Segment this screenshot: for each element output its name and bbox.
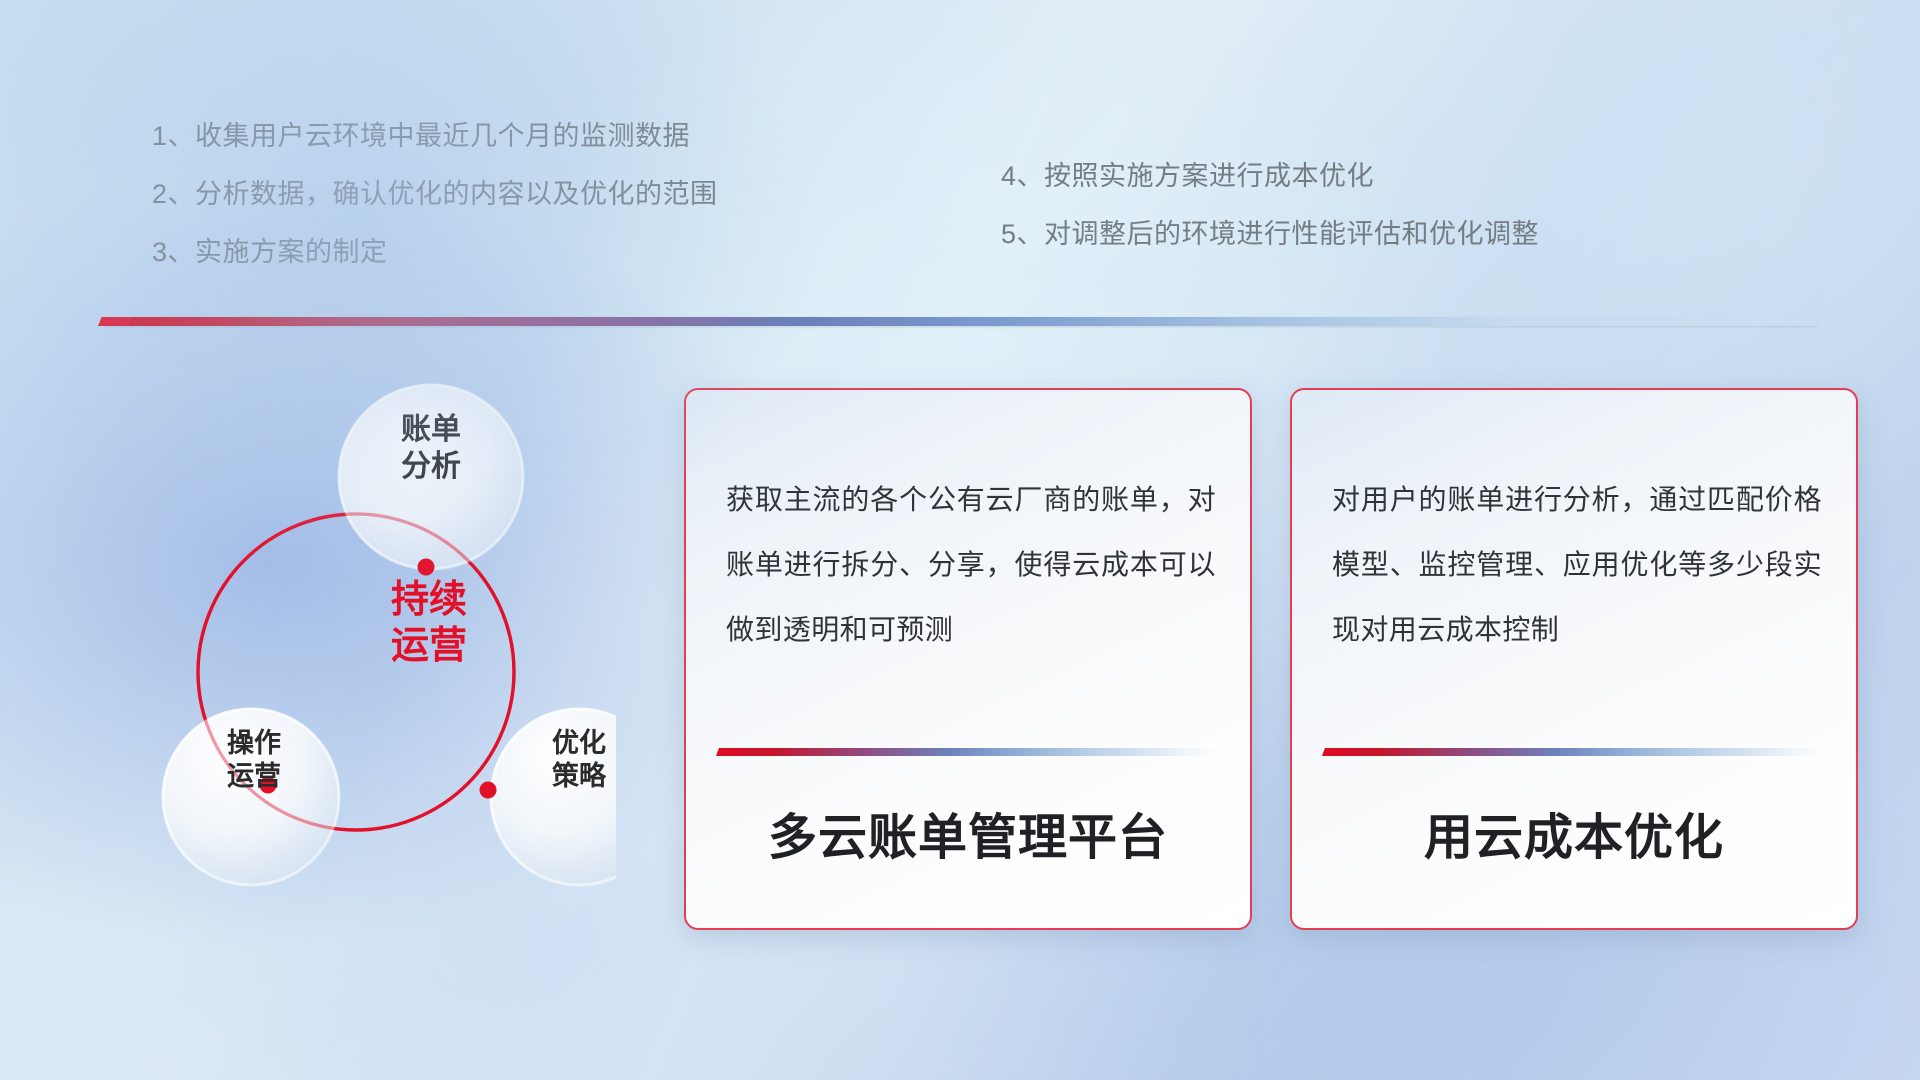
process-step-1: 1、收集用户云环境中最近几个月的监测数据 bbox=[152, 123, 718, 150]
process-steps-right: 4、按照实施方案进行成本优化 5、对调整后的环境进行性能评估和优化调整 bbox=[1001, 163, 1539, 279]
divider-accent-cap bbox=[98, 317, 132, 326]
feature-card-cost-optimization[interactable]: 对用户的账单进行分析，通过匹配价格模型、监控管理、应用优化等多少段实现对用云成本… bbox=[1290, 388, 1858, 930]
process-step-2: 2、分析数据，确认优化的内容以及优化的范围 bbox=[152, 181, 718, 208]
process-step-3: 3、实施方案的制定 bbox=[152, 239, 718, 266]
venn-node-top bbox=[418, 559, 435, 576]
card-rule-accent-cap bbox=[716, 748, 741, 756]
venn-diagram: 账单 分析 持续 运营 操作 运营 优化 策略 bbox=[96, 352, 616, 952]
card-description: 获取主流的各个公有云厂商的账单，对账单进行拆分、分享，使得云成本可以做到透明和可… bbox=[726, 468, 1216, 663]
venn-label-optimization: 优化 策略 bbox=[499, 727, 659, 793]
venn-node-bottom-right bbox=[480, 782, 497, 799]
card-title: 用云成本优化 bbox=[1292, 798, 1856, 869]
card-accent-rule bbox=[1326, 748, 1825, 756]
section-divider bbox=[104, 317, 1820, 326]
venn-label-operation: 操作 运营 bbox=[174, 727, 334, 793]
venn-label-bill-analysis: 账单 分析 bbox=[351, 412, 511, 485]
process-step-4: 4、按照实施方案进行成本优化 bbox=[1001, 163, 1539, 190]
process-step-5: 5、对调整后的环境进行性能评估和优化调整 bbox=[1001, 221, 1539, 248]
card-rule-accent-cap bbox=[1322, 748, 1347, 756]
process-steps-left: 1、收集用户云环境中最近几个月的监测数据 2、分析数据，确认优化的内容以及优化的… bbox=[152, 123, 718, 297]
card-description: 对用户的账单进行分析，通过匹配价格模型、监控管理、应用优化等多少段实现对用云成本… bbox=[1332, 468, 1822, 663]
card-accent-rule bbox=[720, 748, 1219, 756]
feature-card-multicloud-billing[interactable]: 获取主流的各个公有云厂商的账单，对账单进行拆分、分享，使得云成本可以做到透明和可… bbox=[684, 388, 1252, 930]
venn-label-continuous-ops: 持续 运营 bbox=[349, 577, 509, 670]
slide-canvas: 1、收集用户云环境中最近几个月的监测数据 2、分析数据，确认优化的内容以及优化的… bbox=[0, 0, 1920, 1080]
card-title: 多云账单管理平台 bbox=[686, 798, 1250, 869]
